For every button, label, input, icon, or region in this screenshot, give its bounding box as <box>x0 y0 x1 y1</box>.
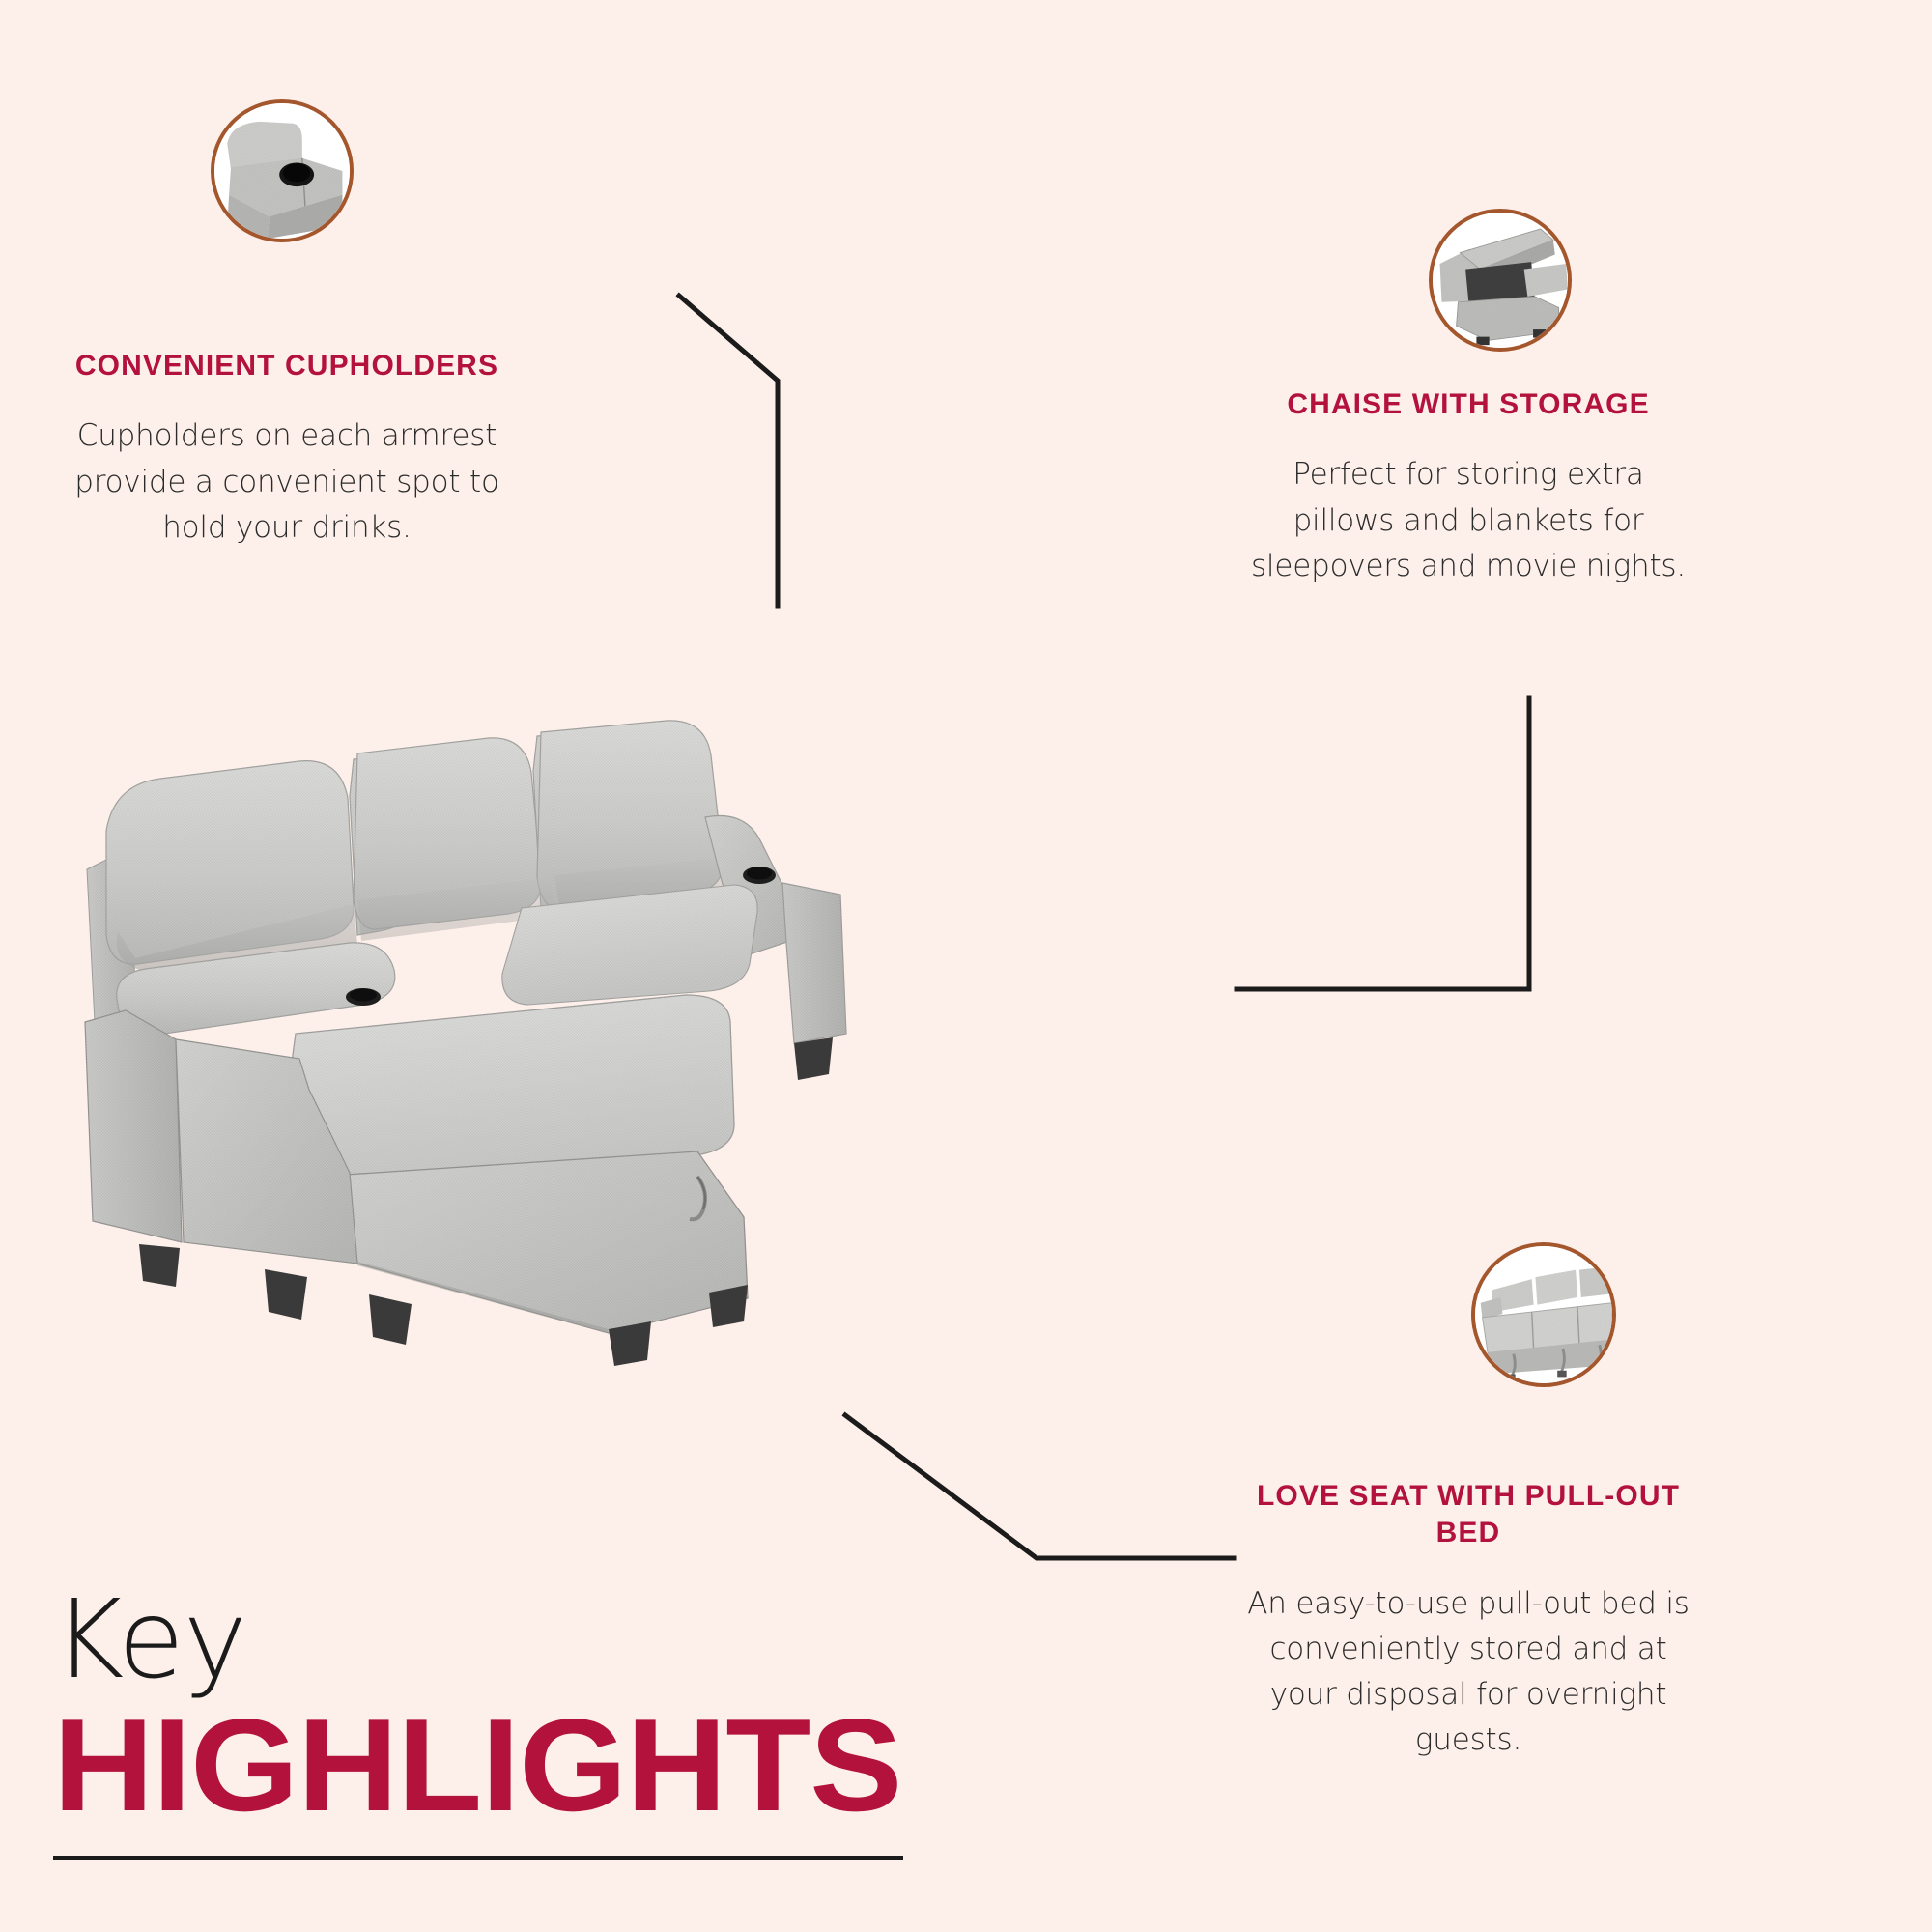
cupholder-detail-photo <box>211 99 354 242</box>
title-divider <box>53 1856 903 1860</box>
feature-heading-pull-out-bed: LOVE SEAT WITH PULL-OUT BED <box>1241 1478 1695 1552</box>
pull-out-bed-photo <box>1471 1242 1616 1387</box>
feature-heading-cupholders: CONVENIENT CUPHOLDERS <box>60 348 514 384</box>
feature-block-cupholders: CONVENIENT CUPHOLDERS Cupholders on each… <box>60 348 514 551</box>
chaise-storage-photo <box>1429 209 1572 352</box>
connector-chaise-storage <box>1236 697 1529 989</box>
sectional-sofa-photo <box>68 715 995 1372</box>
feature-body-cupholders: Cupholders on each armrest provide a con… <box>60 413 514 550</box>
connector-pull-out-bed <box>845 1415 1235 1558</box>
feature-block-chaise-storage: CHAISE WITH STORAGE Perfect for storing … <box>1241 386 1695 589</box>
page-title-line2: HIGHLIGHTS <box>53 1699 1015 1831</box>
connector-cupholders <box>679 296 778 606</box>
feature-body-pull-out-bed: An easy-to-use pull-out bed is convenien… <box>1241 1581 1695 1763</box>
page-title-line1: Key <box>53 1589 961 1693</box>
feature-body-chaise-storage: Perfect for storing extra pillows and bl… <box>1241 452 1695 588</box>
feature-block-pull-out-bed: LOVE SEAT WITH PULL-OUT BED An easy-to-u… <box>1241 1478 1695 1763</box>
page-title: Key HIGHLIGHTS <box>53 1589 961 1860</box>
feature-heading-chaise-storage: CHAISE WITH STORAGE <box>1241 386 1695 423</box>
infographic-canvas: CONVENIENT CUPHOLDERS Cupholders on each… <box>0 0 1932 1932</box>
